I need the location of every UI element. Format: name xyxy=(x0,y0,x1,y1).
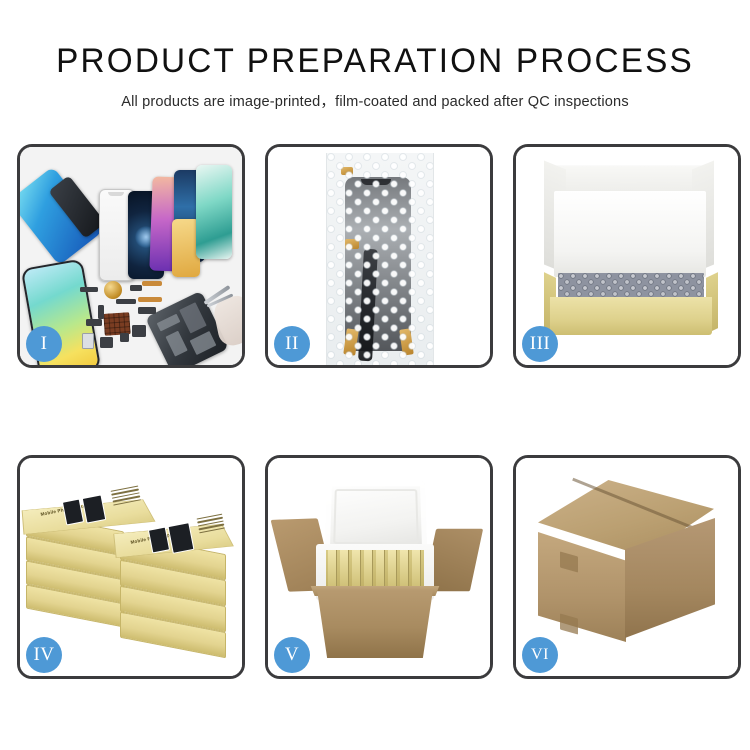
process-step-panel-6: VI xyxy=(513,455,741,679)
page-subtitle: All products are image-printed，film-coat… xyxy=(0,81,750,111)
product-preparation-infographic: PRODUCT PREPARATION PROCESS All products… xyxy=(0,0,750,750)
phone-teal-icon xyxy=(196,165,232,259)
box-label-thumb-1b xyxy=(82,494,107,523)
part-speaker-icon xyxy=(100,337,113,348)
step-badge-1: I xyxy=(26,326,62,362)
bubble-wrap-bag-icon xyxy=(326,153,434,365)
header: PRODUCT PREPARATION PROCESS All products… xyxy=(0,0,750,111)
carton-front-icon xyxy=(312,590,438,658)
part-ribbon-icon xyxy=(116,299,136,304)
process-step-panel-1: I xyxy=(17,144,245,368)
process-step-panel-4: Mobile Phone Spare Parts Mobile Phone Sp… xyxy=(17,455,245,679)
step-badge-4: IV xyxy=(26,637,62,673)
step-badge-3: III xyxy=(522,326,558,362)
process-step-panel-5: V xyxy=(265,455,493,679)
part-screw-icon xyxy=(120,333,129,342)
part-button-icon xyxy=(132,325,146,337)
part-connector-icon xyxy=(80,287,98,292)
page-title: PRODUCT PREPARATION PROCESS xyxy=(8,0,743,81)
flex-cable-icon xyxy=(142,281,162,286)
part-pin-icon xyxy=(98,305,104,319)
process-step-grid: I II xyxy=(17,144,741,679)
bubble-texture xyxy=(327,153,433,365)
step-badge-6: VI xyxy=(522,637,558,673)
inner-boxes-icon xyxy=(326,550,424,592)
process-step-panel-2: II xyxy=(265,144,493,368)
box-front-icon xyxy=(550,297,712,335)
flex-cable-2-icon xyxy=(138,297,162,302)
step-badge-5: V xyxy=(274,637,310,673)
part-camera-icon xyxy=(82,333,94,349)
part-chip-icon xyxy=(130,285,142,291)
part-bracket-icon xyxy=(86,319,102,326)
box-label-thumb-1a xyxy=(62,499,84,526)
step-badge-2: II xyxy=(274,326,310,362)
gold-component-icon xyxy=(104,281,122,299)
part-flex-icon xyxy=(138,307,156,314)
foam-cooler-lid-icon xyxy=(325,482,428,552)
foam-sheet-icon xyxy=(554,191,706,277)
process-step-panel-3: III xyxy=(513,144,741,368)
